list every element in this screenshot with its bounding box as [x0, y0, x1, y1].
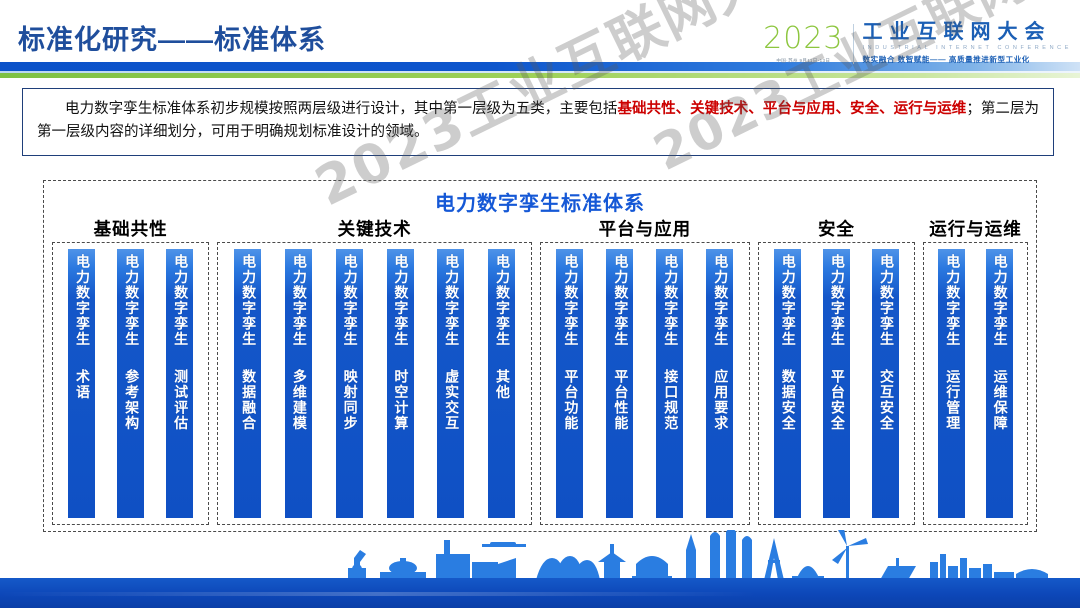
card-name-label: 参考架构 [123, 369, 138, 431]
logo-name-block: 工业互联网大会 INDUSTRIAL INTERNET CONFERENCE 数… [863, 22, 1072, 65]
callout-part1: 电力数字孪生标准体系初步规模按照两层级进行设计，其中第一层级为五类，主要包括 [65, 101, 617, 117]
card-prefix-label: 电力数字孪生 [992, 254, 1007, 347]
logo-name-en: INDUSTRIAL INTERNET CONFERENCE [863, 45, 1072, 51]
card-name-label: 接口规范 [662, 369, 677, 431]
card-name-label: 应用要求 [712, 369, 727, 431]
conference-logo: 2023 中国·苏州 9月11日-13日 工业互联网大会 INDUSTRIAL … [763, 22, 1072, 65]
card-name-label: 交互安全 [878, 369, 893, 431]
title-rule-green [0, 73, 1080, 78]
callout-paragraph: 电力数字孪生标准体系初步规模按照两层级进行设计，其中第一层级为五类，主要包括基础… [37, 98, 1039, 145]
standard-card[interactable]: 电力数字孪生数据安全 [774, 249, 801, 518]
callout-highlight: 基础共性、关键技术、平台与应用、安全、运行与运维 [617, 101, 966, 117]
diagram-groups: 基础共性电力数字孪生术语电力数字孪生参考架构电力数字孪生测试评估关键技术电力数字… [52, 217, 1028, 525]
card-prefix-label: 电力数字孪生 [878, 254, 893, 347]
page-title: 标准化研究——标准体系 [18, 18, 326, 57]
footer-sea-shine [0, 592, 1080, 596]
standard-card[interactable]: 电力数字孪生交互安全 [872, 249, 899, 518]
diagram-group-4: 安全电力数字孪生数据安全电力数字孪生平台安全电力数字孪生交互安全 [758, 217, 915, 525]
city-skyline-icon [340, 530, 1080, 580]
card-name-label: 数据融合 [240, 369, 255, 431]
footer-skyline-band [0, 530, 1080, 608]
card-name-label: 平台安全 [829, 369, 844, 431]
card-name-label: 运行管理 [944, 369, 959, 431]
group-box: 电力数字孪生数据安全电力数字孪生平台安全电力数字孪生交互安全 [758, 242, 915, 525]
group-box: 电力数字孪生数据融合电力数字孪生多维建模电力数字孪生映射同步电力数字孪生时空计算… [217, 242, 532, 525]
diagram-title: 电力数字孪生标准体系 [44, 187, 1036, 216]
card-prefix-label: 电力数字孪生 [172, 254, 187, 347]
standard-card[interactable]: 电力数字孪生时空计算 [387, 249, 414, 518]
standard-card[interactable]: 电力数字孪生平台安全 [823, 249, 850, 518]
standard-card[interactable]: 电力数字孪生多维建模 [285, 249, 312, 518]
logo-year-text: 2023 [763, 24, 843, 54]
standard-card[interactable]: 电力数字孪生应用要求 [706, 249, 733, 518]
group-label: 平台与应用 [540, 217, 750, 242]
callout-textbox: 电力数字孪生标准体系初步规模按照两层级进行设计，其中第一层级为五类，主要包括基础… [22, 88, 1054, 156]
standard-card[interactable]: 电力数字孪生数据融合 [234, 249, 261, 518]
card-prefix-label: 电力数字孪生 [563, 254, 578, 347]
card-prefix-label: 电力数字孪生 [240, 254, 255, 347]
card-prefix-label: 电力数字孪生 [780, 254, 795, 347]
logo-name-cn: 工业互联网大会 [863, 22, 1072, 42]
diagram-group-3: 平台与应用电力数字孪生平台功能电力数字孪生平台性能电力数字孪生接口规范电力数字孪… [540, 217, 750, 525]
standard-card[interactable]: 电力数字孪生接口规范 [656, 249, 683, 518]
card-prefix-label: 电力数字孪生 [829, 254, 844, 347]
standard-card[interactable]: 电力数字孪生参考架构 [117, 249, 144, 518]
card-prefix-label: 电力数字孪生 [494, 254, 509, 347]
card-prefix-label: 电力数字孪生 [662, 254, 677, 347]
diagram-group-1: 基础共性电力数字孪生术语电力数字孪生参考架构电力数字孪生测试评估 [52, 217, 209, 525]
standard-system-diagram: 电力数字孪生标准体系 基础共性电力数字孪生术语电力数字孪生参考架构电力数字孪生测… [43, 180, 1037, 532]
card-prefix-label: 电力数字孪生 [291, 254, 306, 347]
standard-card[interactable]: 电力数字孪生运行管理 [938, 249, 965, 518]
card-name-label: 术语 [74, 369, 89, 400]
card-name-label: 平台功能 [563, 369, 578, 431]
card-name-label: 运维保障 [992, 369, 1007, 431]
card-name-label: 多维建模 [291, 369, 306, 431]
standard-card[interactable]: 电力数字孪生术语 [68, 249, 95, 518]
logo-date-text: 中国·苏州 9月11日-13日 [776, 58, 830, 64]
group-box: 电力数字孪生运行管理电力数字孪生运维保障 [923, 242, 1028, 525]
group-label: 运行与运维 [923, 217, 1028, 242]
card-name-label: 虚实交互 [443, 369, 458, 431]
diagram-group-5: 运行与运维电力数字孪生运行管理电力数字孪生运维保障 [923, 217, 1028, 525]
standard-card[interactable]: 电力数字孪生其他 [488, 249, 515, 518]
group-label: 基础共性 [52, 217, 209, 242]
standard-card[interactable]: 电力数字孪生虚实交互 [437, 249, 464, 518]
card-prefix-label: 电力数字孪生 [342, 254, 357, 347]
card-name-label: 测试评估 [172, 369, 187, 431]
logo-divider [853, 24, 854, 64]
card-name-label: 映射同步 [342, 369, 357, 431]
logo-tagline: 数实融合 数智赋能—— 高质量推进新型工业化 [863, 54, 1072, 65]
card-name-label: 其他 [494, 369, 509, 400]
card-prefix-label: 电力数字孪生 [944, 254, 959, 347]
card-prefix-label: 电力数字孪生 [612, 254, 627, 347]
card-name-label: 数据安全 [780, 369, 795, 431]
standard-card[interactable]: 电力数字孪生映射同步 [336, 249, 363, 518]
group-label: 安全 [758, 217, 915, 242]
card-prefix-label: 电力数字孪生 [123, 254, 138, 347]
diagram-group-2: 关键技术电力数字孪生数据融合电力数字孪生多维建模电力数字孪生映射同步电力数字孪生… [217, 217, 532, 525]
card-name-label: 平台性能 [612, 369, 627, 431]
card-name-label: 时空计算 [393, 369, 408, 431]
standard-card[interactable]: 电力数字孪生平台功能 [556, 249, 583, 518]
slide-root: 标准化研究——标准体系 2023 中国·苏州 9月11日-13日 工业互联网大会… [0, 0, 1080, 608]
group-box: 电力数字孪生术语电力数字孪生参考架构电力数字孪生测试评估 [52, 242, 209, 525]
card-prefix-label: 电力数字孪生 [712, 254, 727, 347]
group-label: 关键技术 [217, 217, 532, 242]
card-prefix-label: 电力数字孪生 [74, 254, 89, 347]
logo-year-block: 2023 中国·苏州 9月11日-13日 [763, 24, 843, 64]
group-box: 电力数字孪生平台功能电力数字孪生平台性能电力数字孪生接口规范电力数字孪生应用要求 [540, 242, 750, 525]
card-prefix-label: 电力数字孪生 [443, 254, 458, 347]
standard-card[interactable]: 电力数字孪生测试评估 [166, 249, 193, 518]
standard-card[interactable]: 电力数字孪生平台性能 [606, 249, 633, 518]
card-prefix-label: 电力数字孪生 [393, 254, 408, 347]
standard-card[interactable]: 电力数字孪生运维保障 [986, 249, 1013, 518]
